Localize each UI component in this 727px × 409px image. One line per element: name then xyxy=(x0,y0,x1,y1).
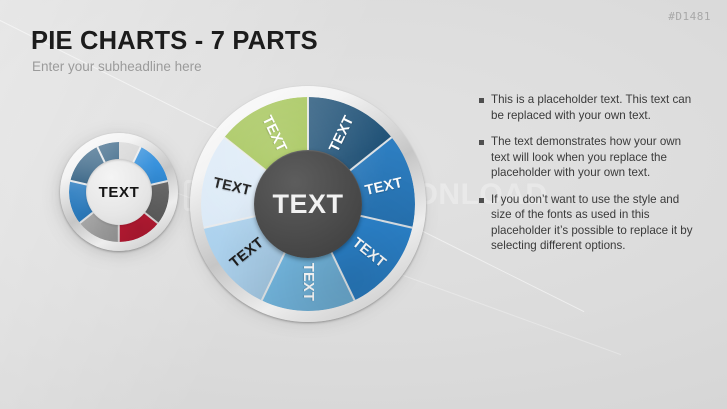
slide-canvas: #D1481 PIE CHARTS - 7 PARTS Enter your s… xyxy=(0,0,727,409)
square-bullet-icon xyxy=(479,140,484,145)
bullet-item: If you don’t want to use the style and s… xyxy=(479,192,697,254)
bullet-text: The text demonstrates how your own text … xyxy=(491,134,697,181)
bullet-text: If you don’t want to use the style and s… xyxy=(491,192,697,254)
large-pie-chart[interactable]: TEXTTEXTTEXTTEXTTEXTTEXTTEXT TEXT xyxy=(190,86,426,322)
bullet-item: This is a placeholder text. This text ca… xyxy=(479,92,697,123)
page-subtitle: Enter your subheadline here xyxy=(32,59,202,74)
square-bullet-icon xyxy=(479,198,484,203)
square-bullet-icon xyxy=(479,98,484,103)
pie-segment-label: TEXT xyxy=(300,263,316,301)
large-pie-center-label: TEXT xyxy=(254,150,362,258)
bullet-item: The text demonstrates how your own text … xyxy=(479,134,697,181)
small-donut-center-label: TEXT xyxy=(86,159,152,225)
bullet-text: This is a placeholder text. This text ca… xyxy=(491,92,697,123)
document-code: #D1481 xyxy=(668,10,711,23)
small-donut-chart[interactable]: TEXT xyxy=(60,133,178,251)
bullet-list: This is a placeholder text. This text ca… xyxy=(479,92,697,265)
page-title: PIE CHARTS - 7 PARTS xyxy=(31,27,318,56)
